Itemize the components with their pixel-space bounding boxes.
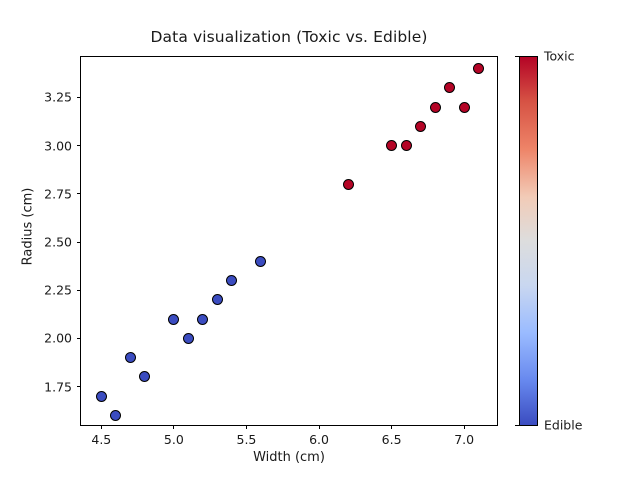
y-tick — [77, 193, 81, 194]
data-point — [343, 179, 354, 190]
data-point — [444, 82, 455, 93]
data-point — [430, 102, 441, 113]
data-point — [401, 140, 412, 151]
y-tick — [77, 290, 81, 291]
y-tick-label: 1.75 — [44, 379, 72, 394]
y-tick-label: 3.25 — [44, 90, 72, 105]
y-tick-label: 2.50 — [44, 235, 72, 250]
y-tick — [77, 97, 81, 98]
colorbar-gradient — [519, 56, 538, 426]
plot-area: 4.55.05.56.06.57.0 1.752.002.252.502.753… — [80, 56, 498, 426]
y-tick — [77, 386, 81, 387]
x-tick-label: 4.5 — [91, 432, 111, 447]
data-point — [212, 294, 223, 305]
scatter-chart-figure: Data visualization (Toxic vs. Edible) 4.… — [0, 0, 640, 480]
x-tick — [173, 425, 174, 429]
x-tick-label: 7.0 — [454, 432, 474, 447]
x-tick-label: 5.5 — [237, 432, 257, 447]
data-point — [183, 333, 194, 344]
data-point — [96, 391, 107, 402]
x-tick-label: 6.5 — [382, 432, 402, 447]
x-tick — [101, 425, 102, 429]
data-point — [125, 352, 136, 363]
data-point — [139, 371, 150, 382]
data-point — [197, 314, 208, 325]
colorbar-label-edible: Edible — [544, 418, 582, 433]
colorbar: Toxic Edible — [519, 56, 538, 426]
data-point — [473, 63, 484, 74]
page-title: Data visualization (Toxic vs. Edible) — [80, 28, 498, 46]
data-point — [226, 275, 237, 286]
data-point — [110, 410, 121, 421]
y-tick-label: 3.00 — [44, 138, 72, 153]
y-tick — [77, 242, 81, 243]
data-point — [459, 102, 470, 113]
data-point — [168, 314, 179, 325]
data-point — [386, 140, 397, 151]
x-tick-label: 6.0 — [309, 432, 329, 447]
data-points-layer — [81, 57, 497, 425]
y-tick-label: 2.25 — [44, 283, 72, 298]
data-point — [255, 256, 266, 267]
colorbar-tick-high — [515, 56, 519, 57]
x-axis-label: Width (cm) — [80, 450, 498, 465]
colorbar-tick-low — [515, 425, 519, 426]
y-tick-label: 2.00 — [44, 331, 72, 346]
x-tick — [319, 425, 320, 429]
y-tick — [77, 145, 81, 146]
x-tick — [246, 425, 247, 429]
x-tick — [464, 425, 465, 429]
y-tick-label: 2.75 — [44, 186, 72, 201]
x-tick-label: 5.0 — [164, 432, 184, 447]
data-point — [415, 121, 426, 132]
y-tick — [77, 338, 81, 339]
x-tick — [391, 425, 392, 429]
colorbar-label-toxic: Toxic — [544, 49, 575, 64]
y-axis-label: Radius (cm) — [21, 137, 36, 317]
